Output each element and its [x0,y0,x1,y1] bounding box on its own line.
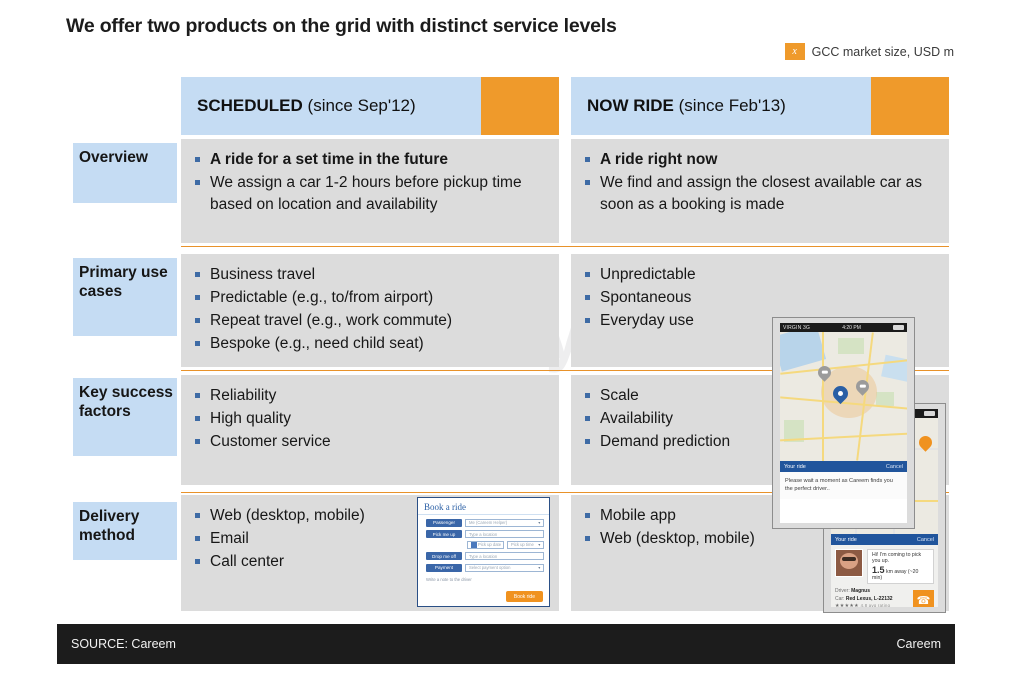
column-name-now-ride: NOW RIDE [587,96,674,115]
market-size-box-scheduled [481,77,559,135]
row-label-overview: Overview [73,143,177,203]
webform-label-pickup: Pick me up [426,530,462,538]
driver-avg-rating: 4.8 avg rating [861,603,891,607]
driver-distance-value: 1.5 [872,565,885,575]
webform-datetime-row: Pick up date Pick up time [467,541,544,549]
phone-mockup-searching: VIRGIN 3G 4:20 PM You [772,317,915,529]
ride-status-bar: Your ride Cancel [831,534,938,545]
list-item: Predictable (e.g., to/from airport) [193,287,549,309]
page-title: We offer two products on the grid with d… [66,15,617,38]
avatar [835,549,863,577]
waiting-message: Please wait a moment as Careem finds you… [780,472,907,499]
list-item: We find and assign the closest available… [583,172,939,216]
webform-input-time: Pick up time [507,541,544,549]
column-name-scheduled: SCHEDULED [197,96,303,115]
driver-car-row: Car: Red Lexus, L-22132 [835,596,893,604]
footer-source: SOURCE: Careem [71,637,176,651]
webform-date-text: Pick up date [478,542,501,547]
bullet-list: Reliability High quality Customer servic… [193,385,549,454]
calendar-icon [471,542,477,548]
webform-note: Write a note to the driver [426,577,549,582]
webform-input-payment: Select payment option [465,564,544,572]
list-item: Repeat travel (e.g., work commute) [193,310,549,332]
list-item: Spontaneous [583,287,939,309]
column-header-now-ride: NOW RIDE (since Feb'13) [571,77,949,135]
map-park [838,338,864,354]
driver-message-bubble: Hi! I'm coming to pick you up. 1.5 km aw… [867,549,934,584]
ride-bar-title: Your ride [784,464,806,470]
map-road [822,332,824,461]
cell-overview-now-ride: A ride right now We find and assign the … [571,139,949,243]
column-header-now-ride-text: NOW RIDE (since Feb'13) [571,96,786,116]
driver-distance: 1.5 km away (~20 min) [872,565,929,581]
bullet-list: Business travel Predictable (e.g., to/fr… [193,264,549,356]
column-since-now-ride: (since Feb'13) [679,96,786,115]
car-value: Red Lexus, L-22132 [846,596,893,602]
map-view [780,332,907,461]
call-driver-button: ☎ [913,590,934,608]
list-item: Unpredictable [583,264,939,286]
row-divider [181,246,949,247]
webform-field-passenger: Passenger Me (Careem Helper) [426,519,544,527]
webform-label-payment: Payment [426,564,462,572]
column-since-scheduled: (since Sep'12) [308,96,416,115]
row-label-delivery-method: Delivery method [73,502,177,560]
car-label: Car: [835,596,844,602]
list-item: Reliability [193,385,549,407]
ride-status-bar: Your ride Cancel [780,461,907,472]
footer: SOURCE: Careem Careem [57,624,955,664]
status-bar: VIRGIN 3G 4:20 PM [780,323,907,332]
webform-field-payment: Payment Select payment option [426,564,544,572]
cell-use-cases-scheduled: Business travel Predictable (e.g., to/fr… [181,254,559,367]
driver-card: Hi! I'm coming to pick you up. 1.5 km aw… [831,545,938,607]
webform-input-date: Pick up date [467,541,504,549]
column-header-scheduled: SCHEDULED (since Sep'12) [181,77,559,135]
status-time: 4:20 PM [842,325,861,331]
cell-success-scheduled: Reliability High quality Customer servic… [181,375,559,485]
map-water [780,332,826,372]
legend: x GCC market size, USD m [785,43,954,60]
bullet-list: A ride for a set time in the future We a… [193,149,549,217]
driver-name: Magnus [851,588,870,594]
webform-title: Book a ride [418,498,549,515]
webform-label-passenger: Passenger [426,519,462,527]
driver-card-bottom: Driver: Magnus Car: Red Lexus, L-22132 ★… [835,588,934,607]
market-size-box-now-ride [871,77,949,135]
row-label-key-success-factors: Key success factors [73,378,177,456]
driver-card-top: Hi! I'm coming to pick you up. 1.5 km aw… [835,549,934,584]
webform-input-pickup: Type a location [465,530,544,538]
status-carrier: VIRGIN 3G [783,325,810,331]
battery-icon [924,411,935,416]
list-item: Business travel [193,264,549,286]
list-item: A ride for a set time in the future [193,149,549,171]
webform-input-dropoff: Type a location [465,552,544,560]
legend-swatch-icon: x [785,43,805,60]
star-rating-icon: ★★★★★ [835,603,859,607]
list-item: Customer service [193,431,549,453]
webform-label-dropoff: Drop me off [426,552,462,560]
driver-rating: ★★★★★ 4.8 avg rating [835,603,893,607]
webform-field-pickup: Pick me up Type a location [426,530,544,538]
list-item: A ride right now [583,149,939,171]
driver-label: Driver: [835,588,850,594]
map-park [876,392,894,406]
phone-screen: VIRGIN 3G 4:20 PM You [780,323,907,523]
driver-meta: Driver: Magnus Car: Red Lexus, L-22132 ★… [835,588,893,607]
legend-label: GCC market size, USD m [812,45,954,59]
slide: We offer two products on the grid with d… [0,0,1012,676]
list-item: Bespoke (e.g., need child seat) [193,333,549,355]
driver-name-row: Driver: Magnus [835,588,893,596]
driver-greeting: Hi! I'm coming to pick you up. [872,552,929,564]
webform-field-dropoff: Drop me off Type a location [426,552,544,560]
footer-brand: Careem [897,637,941,651]
list-item: We assign a car 1-2 hours before pickup … [193,172,549,216]
ride-bar-title: Your ride [835,537,857,543]
webform-book-ride-button: Book ride [506,591,543,602]
webform-input-passenger: Me (Careem Helper) [465,519,544,527]
list-item: High quality [193,408,549,430]
cancel-ride-button: Cancel [886,464,903,470]
bullet-list: A ride right now We find and assign the … [583,149,939,217]
cancel-ride-button: Cancel [917,537,934,543]
row-label-primary-use-cases: Primary use cases [73,258,177,336]
battery-icon [893,325,904,330]
web-booking-form-screenshot: Book a ride Passenger Me (Careem Helper)… [417,497,550,607]
cell-overview-scheduled: A ride for a set time in the future We a… [181,139,559,243]
column-header-scheduled-text: SCHEDULED (since Sep'12) [181,96,416,116]
